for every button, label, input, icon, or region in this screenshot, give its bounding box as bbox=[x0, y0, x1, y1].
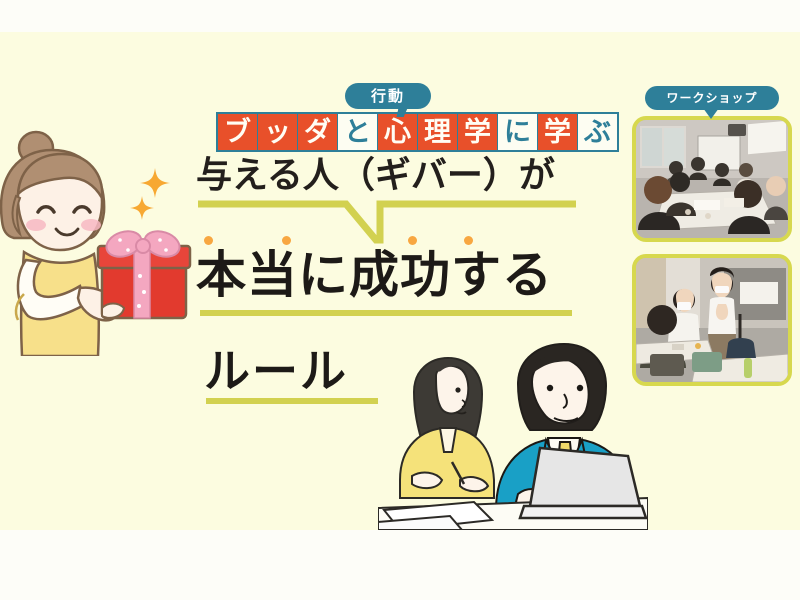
workshop-photo-presenter bbox=[632, 254, 792, 386]
title-tile: 心 bbox=[378, 114, 417, 150]
emphasis-dot bbox=[464, 236, 473, 245]
title-tile: ッ bbox=[258, 114, 297, 150]
poster-canvas: 行動 ブ ッ ダ と 心 理 学 に 学 ぶ 与える人（ギバー）が 本当に成功す… bbox=[0, 0, 800, 600]
workshop-badge: ワークショップ bbox=[645, 86, 779, 110]
title-tile: と bbox=[338, 114, 377, 150]
emphasis-dot bbox=[282, 236, 291, 245]
title-tile: 学 bbox=[458, 114, 497, 150]
headline-line-2: 本当に成功する bbox=[196, 250, 553, 300]
headline-line-3: ルール bbox=[204, 348, 348, 394]
title-tile: ブ bbox=[218, 114, 257, 150]
title-tile: ぶ bbox=[578, 114, 617, 150]
action-badge-label: 行動 bbox=[371, 89, 405, 104]
emphasis-dot bbox=[204, 236, 213, 245]
illustration-woman-with-gift bbox=[0, 126, 194, 356]
illustration-pair-at-laptop bbox=[378, 330, 648, 530]
title-tile: に bbox=[498, 114, 537, 150]
workshop-photo-seminar-circle bbox=[632, 116, 792, 242]
title-tile: 理 bbox=[418, 114, 457, 150]
headline-underline-3 bbox=[206, 398, 378, 404]
headline-line-1: 与える人（ギバー）が bbox=[196, 158, 555, 194]
action-badge: 行動 bbox=[345, 83, 431, 109]
headline-underline-2 bbox=[200, 310, 572, 316]
headline-underline-with-notch bbox=[198, 200, 578, 246]
workshop-badge-label: ワークショップ bbox=[666, 92, 757, 104]
emphasis-dot bbox=[408, 236, 417, 245]
title-tile: 学 bbox=[538, 114, 577, 150]
title-tile-banner: ブ ッ ダ と 心 理 学 に 学 ぶ bbox=[216, 112, 619, 152]
title-tile: ダ bbox=[298, 114, 337, 150]
